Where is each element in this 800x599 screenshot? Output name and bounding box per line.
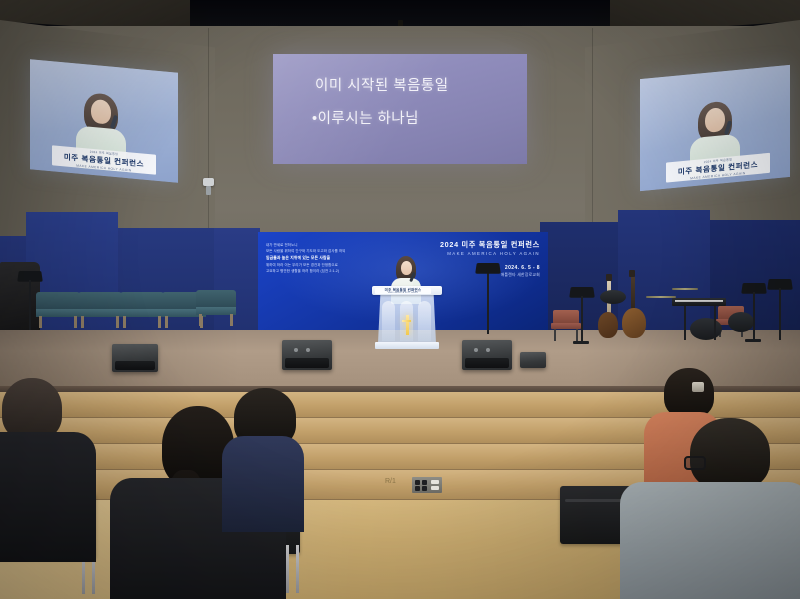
banner-title-main: 2024 미주 복음통일 컨퍼런스 [430,240,540,249]
monitor-knob [474,348,478,352]
audience-body [222,436,304,532]
guitar-headstock [629,270,635,277]
floor-connector-panel [412,477,442,493]
wall-seam-right [592,28,593,228]
chair-leg [39,316,42,328]
chair-leg [81,316,84,328]
cross-icon-bar [402,320,411,322]
chair-leg [554,329,556,341]
floor-port-socket [422,480,427,485]
auditorium-scene: 2024 미주 복음통일 미주 복음통일 컨퍼런스 MAKE AMERICA H… [0,0,800,599]
stand-pole [714,306,716,340]
guitar-headstock [606,274,612,281]
guitar-neck [631,276,635,312]
chair-leg [116,316,119,328]
drum-pad [600,290,626,304]
projection-screen-center: 이미 시작된 복음통일 •이루시는 하나님 [273,54,527,164]
eyeglasses-icon [684,456,706,470]
stage-edge-label: R/1 [385,478,396,485]
floor-port-socket [431,480,439,484]
projection-screen-left: 2024 미주 복음통일 미주 복음통일 컨퍼런스 MAKE AMERICA H… [30,59,178,182]
drum-tom [728,312,754,332]
electric-guitar [598,312,618,338]
stage-monitor-speaker-far-left [112,344,158,372]
chair-back [196,290,236,308]
security-camera-mount [206,186,211,195]
chair-leg [286,545,289,593]
audience-body [0,432,96,562]
keyboard-instrument [672,298,726,306]
podium-base [375,342,439,349]
podium: 미주 복음통일 컨퍼런스 MAKE AMERICA HOLY AGAIN [376,286,438,352]
stage-equipment-case [520,352,546,368]
scripture-line: 내가 만세로 전하노니 [266,242,374,248]
stage-monitor-speaker-right [462,340,512,370]
podium-arch [418,301,431,341]
floor-port-socket [422,486,427,491]
banner-scripture-block: 내가 만세로 전하노니 모든 사람을 위하여 간구와 기도와 도고와 감사를 하… [266,242,374,274]
podium-arch [382,301,395,341]
chair-back [78,292,122,310]
drum-kick [690,318,722,340]
stand-pole [581,296,583,342]
scripture-line-emphasis: 임금들과 높은 지위에 있는 모든 사람을 [266,255,374,262]
chair-leg [230,314,233,326]
projection-screen-right: 2024 미주 복음통일 미주 복음통일 컨퍼런스 MAKE AMERICA H… [640,65,790,191]
wall-seam-left [208,28,209,228]
acoustic-guitar [622,308,646,338]
stand-base [573,341,589,344]
podium-banner: 미주 복음통일 컨퍼런스 MAKE AMERICA HOLY AGAIN [375,288,431,295]
stage-chair-teal [78,292,122,326]
cross-icon [406,315,409,335]
floor-port-socket [431,486,439,490]
chair-back [120,292,164,310]
scripture-line: 고요하고 평안한 생활을 하려 함이라 (딤전 2:1-2) [266,268,374,274]
audience-hair [690,418,770,490]
stage-chair-teal [120,292,164,326]
chair-leg [296,545,299,593]
stage-monitor-speaker-left [282,340,332,370]
keyboard-keys [675,300,723,302]
music-stand [475,263,501,274]
chair-leg [199,314,202,326]
audience-body [620,482,800,599]
podium-top: 미주 복음통일 컨퍼런스 MAKE AMERICA HOLY AGAIN [372,286,442,295]
podium-banner-sub: MAKE AMERICA HOLY AGAIN [388,292,418,294]
floor-port-socket [415,480,420,485]
stage-chair-red [551,310,581,340]
stand-pole [684,306,686,340]
chair-leg [165,316,168,328]
floor-port-socket [415,486,420,491]
chair-back [36,292,80,310]
scripture-line: 모든 사람을 위하여 간구와 기도와 도고와 감사를 하되 [266,248,374,254]
stand-base [745,339,761,342]
hair-clip-icon [692,382,704,392]
stand-pole [753,292,755,340]
audience-hair [2,378,62,440]
projection-text-line-1: 이미 시작된 복음통일 [315,74,449,95]
speaker-face [401,261,412,275]
chair-leg [74,316,77,328]
monitor-grille [465,358,509,368]
monitor-grille [285,358,329,368]
audience-hair [664,368,714,418]
chair-leg [123,316,126,328]
scripture-line: 위하여 하라 이는 우리가 모든 경건과 단정함으로 [266,262,374,268]
stand-pole [779,288,781,340]
chair-leg [576,329,578,341]
monitor-grille [115,361,155,371]
chair-leg [158,316,161,328]
monitor-knob [294,348,298,352]
monitor-knob [306,348,310,352]
monitor-knob [486,348,490,352]
cymbal [672,288,698,290]
banner-title-sub: MAKE AMERICA HOLY AGAIN [430,251,540,256]
chair-back [553,310,579,324]
projection-text-line-2: •이루시는 하나님 [312,107,419,128]
mic-stand-pole [487,270,489,334]
security-camera-icon [203,178,214,186]
podium-body [378,295,436,343]
stage-chair-teal [36,292,80,326]
stage-chair-teal [196,290,236,324]
